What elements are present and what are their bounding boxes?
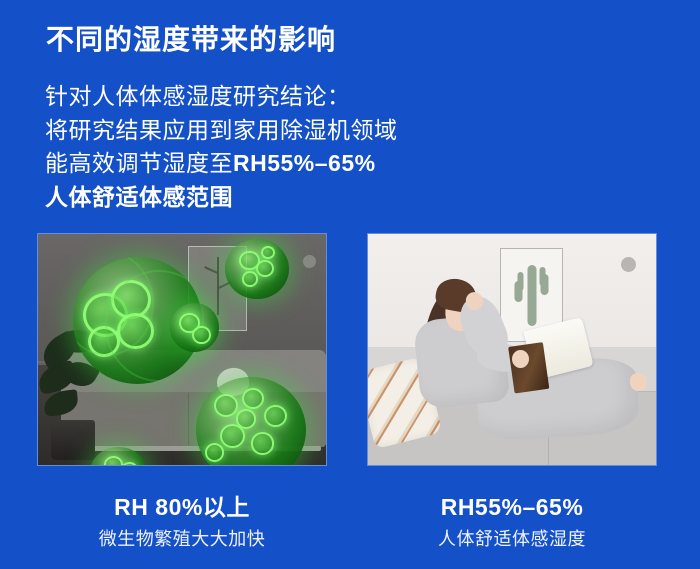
body-line-3-prefix: 能高效调节湿度至 bbox=[45, 150, 233, 176]
microbe-nub bbox=[256, 260, 274, 277]
twig-art-icon bbox=[217, 257, 219, 315]
woman-reading bbox=[368, 234, 656, 465]
caption-high-humidity: RH 80%以上 微生物繁殖大大加快 bbox=[37, 492, 327, 551]
microbe-nub bbox=[192, 326, 211, 345]
body-line-1: 针对人体体感湿度研究结论： bbox=[45, 80, 645, 114]
wall-knob-icon bbox=[303, 255, 316, 268]
microbe-nub bbox=[242, 388, 264, 409]
microbe-nub bbox=[236, 409, 256, 429]
dim-room-scene bbox=[38, 234, 326, 465]
body-line-4: 人体舒适体感范围 bbox=[45, 181, 645, 215]
plant-pot bbox=[51, 420, 94, 460]
caption-sub: 人体舒适体感湿度 bbox=[367, 527, 657, 551]
body-line-2: 将研究结果应用到家用除湿机领域 bbox=[45, 114, 645, 148]
body-copy: 针对人体体感湿度研究结论： 将研究结果应用到家用除湿机领域 能高效调节湿度至RH… bbox=[45, 80, 645, 214]
caption-main: RH55%–65% bbox=[367, 492, 657, 522]
microbe-nub bbox=[261, 246, 275, 260]
photo-high-humidity bbox=[37, 233, 327, 466]
hand-holding-book bbox=[512, 350, 529, 368]
microbe-nub bbox=[104, 456, 123, 465]
photo-comfort-humidity bbox=[367, 233, 657, 466]
caption-main: RH 80%以上 bbox=[37, 492, 327, 522]
page-title: 不同的湿度带来的影响 bbox=[46, 18, 336, 58]
microbe-nub bbox=[242, 271, 259, 287]
humidity-range-highlight: RH55%–65% bbox=[233, 150, 376, 176]
photo-panels bbox=[0, 233, 700, 467]
cushion-split bbox=[188, 393, 189, 445]
foot bbox=[630, 373, 647, 391]
humidity-comparison-poster: 不同的湿度带来的影响 针对人体体感湿度研究结论： 将研究结果应用到家用除湿机领域… bbox=[0, 0, 700, 569]
microbe-nub bbox=[251, 432, 274, 454]
microbe-sphere bbox=[225, 239, 288, 299]
microbe-nub bbox=[205, 443, 224, 462]
microbe-nub bbox=[121, 462, 138, 465]
bright-room-scene bbox=[368, 234, 656, 465]
caption-sub: 微生物繁殖大大加快 bbox=[37, 527, 327, 551]
book-cover bbox=[508, 343, 550, 394]
microbe-sphere bbox=[170, 303, 219, 352]
microbe-nub bbox=[214, 394, 238, 417]
caption-comfort-humidity: RH55%–65% 人体舒适体感湿度 bbox=[367, 492, 657, 551]
microbe-nub bbox=[264, 405, 287, 427]
body-line-3: 能高效调节湿度至RH55%–65% bbox=[45, 147, 645, 181]
